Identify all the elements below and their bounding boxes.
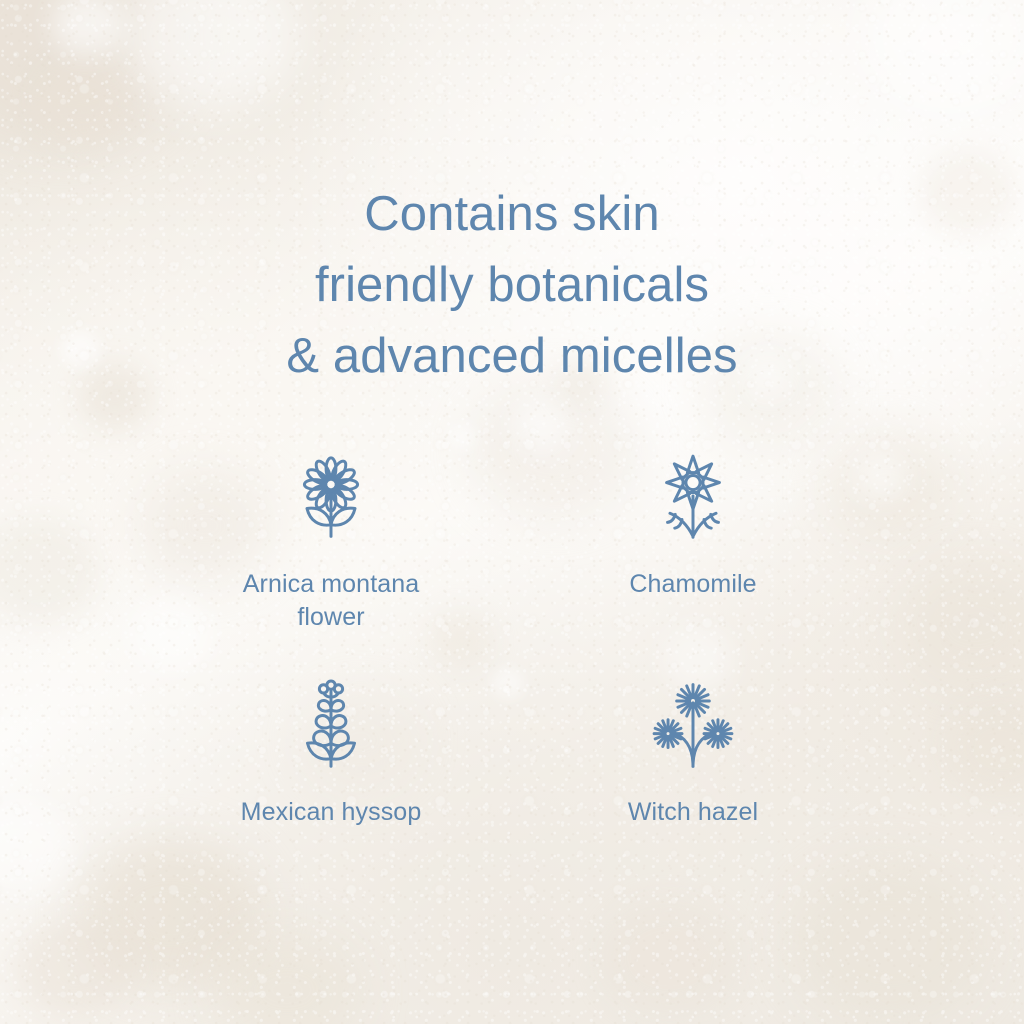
ingredient-label: Arnica montana flower [243, 568, 420, 634]
ingredient-label-line-1: Chamomile [629, 570, 756, 598]
ingredient-label: Chamomile [629, 568, 756, 601]
ingredient-label: Witch hazel [628, 796, 758, 829]
headline-line-3: & advanced micelles [0, 321, 1024, 392]
ingredient-item-mexican-hyssop: Mexican hyssop [150, 676, 512, 829]
ingredient-item-witch-hazel: Witch hazel [512, 676, 874, 829]
ingredient-label-line-2: flower [297, 603, 364, 631]
witch-hazel-icon [645, 676, 741, 772]
ingredient-item-chamomile: Chamomile [512, 448, 874, 666]
headline-line-2: friendly botanicals [0, 250, 1024, 321]
product-ingredients-graphic: Contains skin friendly botanicals & adva… [0, 0, 1024, 1024]
chamomile-flower-icon [645, 448, 741, 544]
ingredient-item-arnica-montana-flower: Arnica montana flower [150, 448, 512, 666]
hyssop-spike-icon [283, 676, 379, 772]
daisy-flower-icon [283, 448, 379, 544]
headline-line-1: Contains skin [0, 179, 1024, 250]
ingredients-grid: Arnica montana flower [150, 448, 874, 829]
ingredient-label-line-1: Witch hazel [628, 798, 758, 826]
ingredient-label: Mexican hyssop [241, 796, 422, 829]
ingredient-label-line-1: Arnica montana [243, 570, 420, 598]
headline: Contains skin friendly botanicals & adva… [0, 179, 1024, 392]
ingredient-label-line-1: Mexican hyssop [241, 798, 422, 826]
